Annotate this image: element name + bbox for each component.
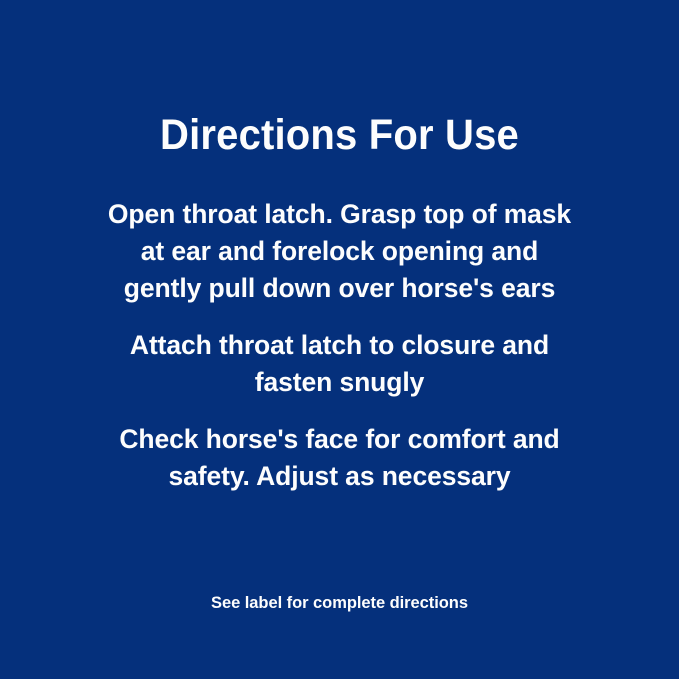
directions-for-use-panel: Directions For Use Open throat latch. Gr… <box>0 0 679 679</box>
instruction-step: Open throat latch. Grasp top of mask at … <box>60 196 620 307</box>
instruction-step: Attach throat latch to closure and faste… <box>60 327 620 401</box>
page-title: Directions For Use <box>24 111 655 159</box>
instruction-list: Open throat latch. Grasp top of mask at … <box>0 196 679 495</box>
instruction-step: Check horse's face for comfort and safet… <box>60 421 620 495</box>
footnote-text: See label for complete directions <box>0 592 679 614</box>
